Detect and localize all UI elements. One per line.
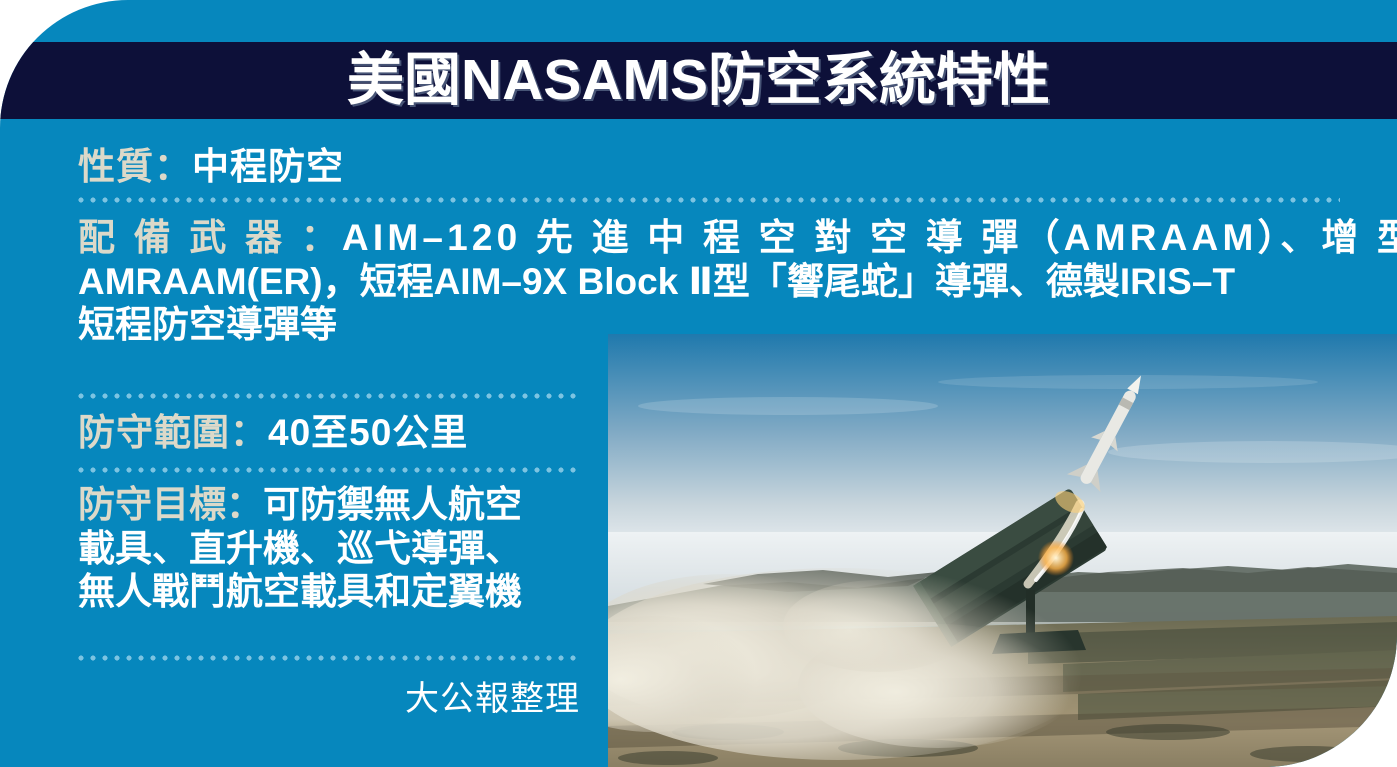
row-nature: 性質：中程防空	[78, 145, 344, 189]
row-weapons-label: 配 備 武 器 ：	[78, 217, 342, 258]
row-target-value-3: 無人戰鬥航空載具和定翼機	[78, 571, 522, 612]
infographic-card: 美國NASAMS防空系統特性 性質：中程防空 配 備 武 器 ：AIM–120 …	[0, 0, 1397, 767]
row-range-label: 防守範圍：	[78, 412, 268, 453]
launch-photo	[608, 334, 1397, 767]
page-title: 美國NASAMS防空系統特性	[347, 52, 1050, 109]
row-range-line: 防守範圍：40至50公里	[78, 411, 468, 455]
row-target-label: 防守目標：	[78, 484, 263, 525]
row-nature-label: 性質：	[78, 146, 192, 187]
title-bar: 美國NASAMS防空系統特性	[0, 42, 1397, 119]
launch-photo-image	[608, 334, 1397, 767]
row-nature-line: 性質：中程防空	[78, 145, 344, 189]
separator-3	[78, 467, 580, 473]
row-target-line-2: 載具、直升機、巡弋導彈、	[78, 527, 522, 571]
row-weapons-line-2: AMRAAM(ER)，短程AIM–9X Block Ⅱ型「響尾蛇」導彈、德製IR…	[78, 260, 1397, 304]
row-range-value: 40至50公里	[268, 412, 468, 453]
row-target-value-1: 可防禦無人航空	[263, 484, 522, 525]
row-target-line-1: 防守目標：可防禦無人航空	[78, 483, 522, 527]
row-target-line-3: 無人戰鬥航空載具和定翼機	[78, 570, 522, 614]
row-weapons-value-1: AIM–120 先 進 中 程 空 對 空 導 彈（AMRAAM）、增 型	[342, 217, 1397, 258]
row-range: 防守範圍：40至50公里	[78, 411, 468, 455]
row-weapons-line-1: 配 備 武 器 ：AIM–120 先 進 中 程 空 對 空 導 彈（AMRAA…	[78, 216, 1397, 260]
row-weapons-value-3: 短程防空導彈等	[78, 304, 337, 345]
row-weapons-value-2: AMRAAM(ER)，短程AIM–9X Block Ⅱ型「響尾蛇」導彈、德製IR…	[78, 261, 1235, 302]
separator-2	[78, 393, 580, 399]
row-target: 防守目標：可防禦無人航空 載具、直升機、巡弋導彈、 無人戰鬥航空載具和定翼機	[78, 483, 522, 614]
row-target-value-2: 載具、直升機、巡弋導彈、	[78, 528, 522, 569]
credit-line: 大公報整理	[78, 671, 580, 720]
credit-text: 大公報整理	[405, 680, 580, 718]
separator-4	[78, 655, 580, 661]
row-weapons: 配 備 武 器 ：AIM–120 先 進 中 程 空 對 空 導 彈（AMRAA…	[78, 216, 1397, 347]
separator-1	[78, 197, 1340, 203]
row-nature-value: 中程防空	[192, 146, 344, 187]
